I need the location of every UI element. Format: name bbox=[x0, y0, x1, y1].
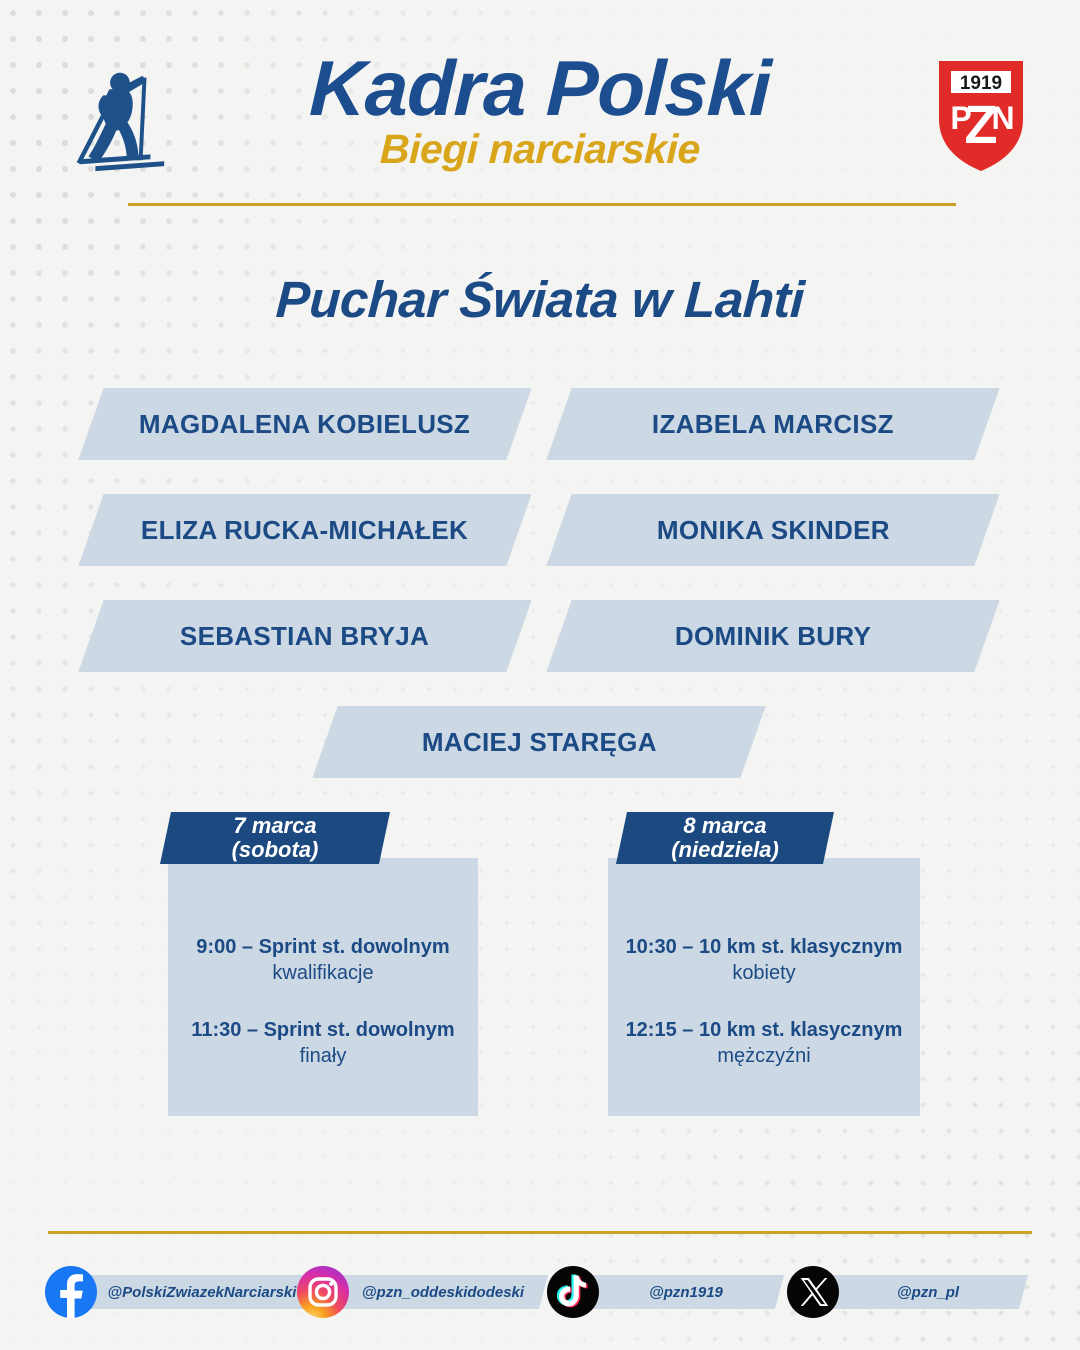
schedule-day: 7 marca (sobota) 9:00 – Sprint st. dowol… bbox=[168, 812, 478, 1116]
schedule-event-title: 11:30 – Sprint st. dowolnym bbox=[180, 1017, 466, 1043]
schedule-day: 8 marca (niedziela) 10:30 – 10 km st. kl… bbox=[608, 812, 920, 1116]
athlete-panel: MAGDALENA KOBIELUSZ bbox=[78, 388, 531, 460]
social-handle: @PolskiZwiazekNarciarski bbox=[108, 1284, 297, 1301]
footer-divider bbox=[48, 1231, 1032, 1234]
schedule-event-title: 10:30 – 10 km st. klasycznym bbox=[620, 934, 908, 960]
page-title: Kadra Polski bbox=[0, 50, 1080, 126]
schedule-event-detail: kwalifikacje bbox=[180, 960, 466, 987]
athlete-name: MONIKA SKINDER bbox=[657, 515, 890, 546]
athlete-name: DOMINIK BURY bbox=[675, 621, 871, 652]
social-handle: @pzn_pl bbox=[897, 1284, 959, 1301]
social-handle-pill: @PolskiZwiazekNarciarski bbox=[70, 1275, 318, 1309]
schedule-day-date: 8 marca bbox=[683, 814, 766, 838]
social-link-x[interactable]: @pzn_pl bbox=[786, 1265, 840, 1319]
schedule-day-header: 7 marca (sobota) bbox=[160, 812, 390, 864]
schedule-day-body: 10:30 – 10 km st. klasycznym kobiety 12:… bbox=[608, 858, 920, 1116]
instagram-icon[interactable] bbox=[296, 1265, 350, 1319]
schedule-event-title: 9:00 – Sprint st. dowolnym bbox=[180, 934, 466, 960]
schedule-event: 10:30 – 10 km st. klasycznym kobiety bbox=[620, 934, 908, 987]
schedule-event-detail: finały bbox=[180, 1043, 466, 1070]
athlete-name: IZABELA MARCISZ bbox=[652, 409, 894, 440]
athlete-panel: IZABELA MARCISZ bbox=[546, 388, 999, 460]
athlete-panel: SEBASTIAN BRYJA bbox=[78, 600, 531, 672]
schedule-day-date: 7 marca bbox=[233, 814, 316, 838]
header-titles: Kadra Polski Biegi narciarskie bbox=[0, 50, 1080, 171]
athlete-row: SEBASTIAN BRYJA DOMINIK BURY bbox=[0, 600, 1080, 706]
social-handle-pill: @pzn_pl bbox=[812, 1275, 1028, 1309]
tiktok-icon[interactable] bbox=[546, 1265, 600, 1319]
athlete-panel: MONIKA SKINDER bbox=[546, 494, 999, 566]
schedule-event-title: 12:15 – 10 km st. klasycznym bbox=[620, 1017, 908, 1043]
social-handle: @pzn_oddeskidodeski bbox=[362, 1284, 524, 1301]
pzn-shield-logo: 1919 P N Z bbox=[935, 57, 1027, 175]
schedule-event: 11:30 – Sprint st. dowolnym finały bbox=[180, 1017, 466, 1070]
athlete-name: MACIEJ STARĘGA bbox=[422, 727, 657, 758]
schedule-day-body: 9:00 – Sprint st. dowolnym kwalifikacje … bbox=[168, 858, 478, 1116]
page-subtitle: Biegi narciarskie bbox=[0, 128, 1080, 171]
athlete-name: SEBASTIAN BRYJA bbox=[180, 621, 429, 652]
schedule-event-detail: kobiety bbox=[620, 960, 908, 987]
athlete-name: MAGDALENA KOBIELUSZ bbox=[139, 409, 470, 440]
x-twitter-icon[interactable] bbox=[786, 1265, 840, 1319]
schedule-day-weekday: (niedziela) bbox=[671, 838, 779, 862]
athlete-list: MAGDALENA KOBIELUSZ IZABELA MARCISZ ELIZ… bbox=[0, 388, 1080, 812]
social-link-tiktok[interactable]: @pzn1919 bbox=[546, 1265, 600, 1319]
athlete-panel: ELIZA RUCKA-MICHAŁEK bbox=[78, 494, 531, 566]
social-handle-pill: @pzn_oddeskidodeski bbox=[322, 1275, 548, 1309]
athlete-name: ELIZA RUCKA-MICHAŁEK bbox=[141, 515, 468, 546]
social-links: @PolskiZwiazekNarciarski @pzn_oddeskidod… bbox=[0, 1265, 1080, 1325]
facebook-icon[interactable] bbox=[44, 1265, 98, 1319]
athlete-row: MACIEJ STARĘGA bbox=[0, 706, 1080, 812]
poster-canvas: Kadra Polski Biegi narciarskie 1919 P N … bbox=[0, 0, 1080, 1350]
social-handle-pill: @pzn1919 bbox=[572, 1275, 784, 1309]
social-link-facebook[interactable]: @PolskiZwiazekNarciarski bbox=[44, 1265, 98, 1319]
schedule-event: 9:00 – Sprint st. dowolnym kwalifikacje bbox=[180, 934, 466, 987]
pzn-year-text: 1919 bbox=[960, 73, 1002, 94]
event-title: Puchar Świata w Lahti bbox=[0, 270, 1080, 329]
athlete-row: MAGDALENA KOBIELUSZ IZABELA MARCISZ bbox=[0, 388, 1080, 494]
athlete-panel: DOMINIK BURY bbox=[546, 600, 999, 672]
header-divider bbox=[128, 203, 956, 206]
schedule-day-header: 8 marca (niedziela) bbox=[616, 812, 834, 864]
schedule-day-weekday: (sobota) bbox=[232, 838, 319, 862]
athlete-row: ELIZA RUCKA-MICHAŁEK MONIKA SKINDER bbox=[0, 494, 1080, 600]
svg-text:Z: Z bbox=[965, 95, 998, 155]
social-handle: @pzn1919 bbox=[649, 1284, 723, 1301]
schedule-event: 12:15 – 10 km st. klasycznym mężczyźni bbox=[620, 1017, 908, 1070]
schedule-event-detail: mężczyźni bbox=[620, 1043, 908, 1070]
athlete-panel: MACIEJ STARĘGA bbox=[312, 706, 765, 778]
social-link-instagram[interactable]: @pzn_oddeskidodeski bbox=[296, 1265, 350, 1319]
